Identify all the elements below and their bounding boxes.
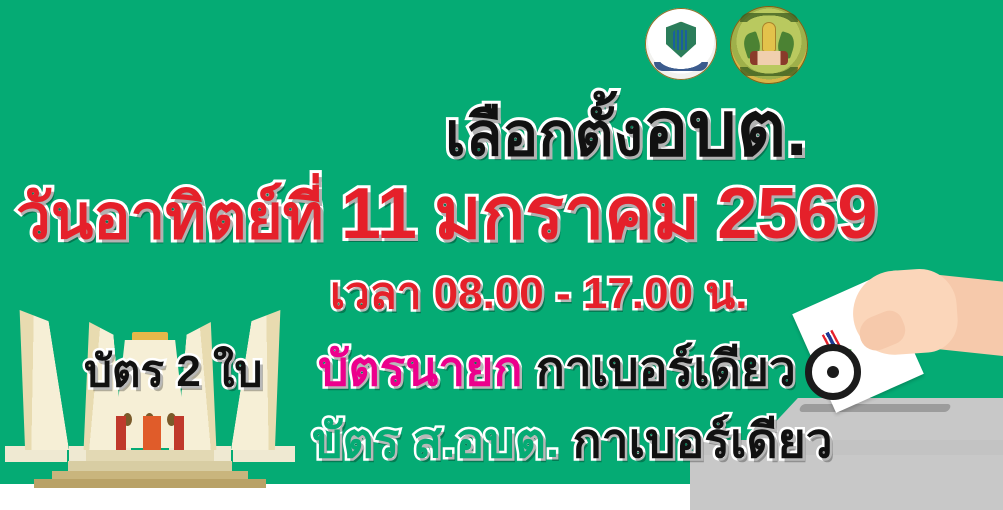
election-commission-seal-icon: [645, 8, 717, 80]
date-number: 11: [341, 174, 417, 254]
page-title: เลือกตั้งอบต.: [445, 92, 807, 168]
ect-shield-icon: [666, 22, 696, 58]
mayor-ballot-line: บัตรนายก กาเบอร์เดียว: [318, 346, 796, 394]
council-ballot-instruction: กาเบอร์เดียว: [573, 415, 833, 468]
mayor-ballot-label: บัตรนายก: [318, 343, 522, 396]
wai-hands-icon: [763, 23, 775, 51]
sao-seal-icon: [730, 6, 808, 84]
mayor-ballot-instruction: กาเบอร์เดียว: [536, 343, 796, 396]
date-prefix: วันอาทิตย์ที่: [16, 183, 324, 252]
date-year: 2569: [717, 174, 877, 254]
headline-prefix: เลือกตั้ง: [445, 101, 643, 168]
election-poster: กาก เลือกตั้งอบต. วันอาทิตย์ที่ 11 มกราค…: [0, 0, 1003, 510]
election-time: เวลา 08.00 - 17.00 น.: [330, 272, 747, 316]
monument-wing: [3, 310, 69, 450]
monument-step: [34, 479, 266, 488]
monument-pillar: [174, 416, 184, 454]
council-ballot-line: บัตร ส.อบต. กาเบอร์เดียว: [312, 418, 833, 466]
date-month: มกราคม: [434, 174, 700, 254]
monument-pillar: [116, 416, 126, 454]
monument-pillar: [143, 416, 161, 454]
council-ballot-label: บัตร ส.อบต.: [312, 415, 559, 468]
sao-ring-text-bottom: [740, 67, 798, 76]
ect-ring-text: [654, 62, 708, 71]
vote-circle-icon: [805, 344, 861, 400]
headline-main: อบต.: [643, 87, 807, 172]
ballot-count-label: บัตร 2 ใบ: [84, 350, 262, 394]
election-date: วันอาทิตย์ที่ 11 มกราคม 2569: [16, 178, 877, 250]
handshake-icon: [750, 51, 788, 65]
sao-ring-text-top: [740, 13, 798, 22]
